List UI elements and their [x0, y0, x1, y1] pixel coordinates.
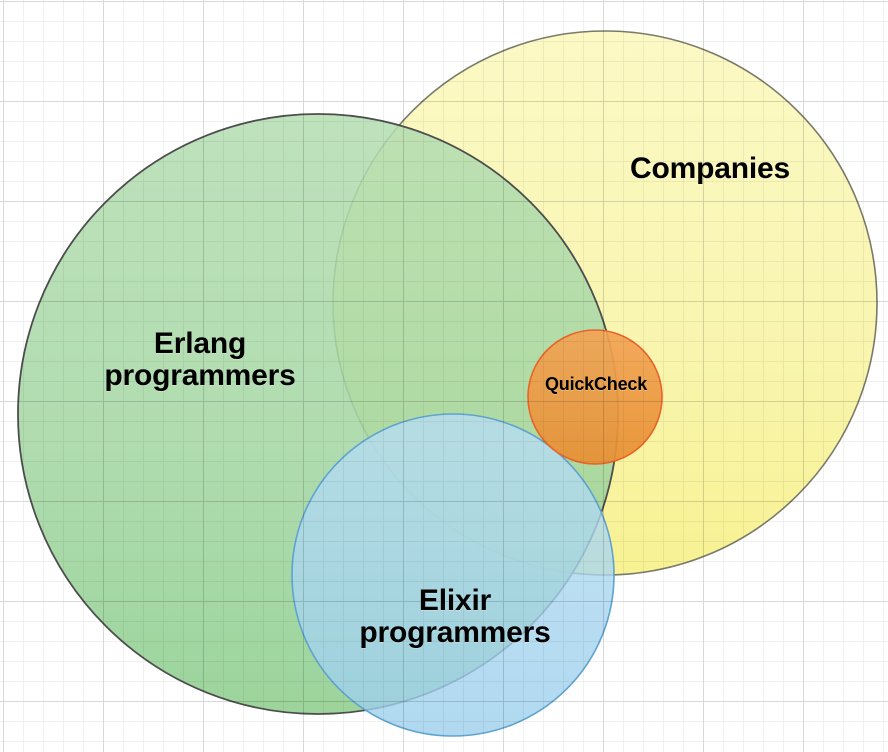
set-label-quickcheck: QuickCheck	[496, 375, 696, 394]
set-circle-elixir-programmers[interactable]	[292, 414, 614, 736]
set-label-erlang-programmers: Erlang programmers	[55, 328, 345, 393]
set-label-elixir-programmers: Elixir programmers	[310, 585, 600, 650]
venn-diagram-canvas: Erlang programmers Companies Elixir prog…	[0, 0, 888, 752]
set-circle-quickcheck[interactable]	[528, 330, 662, 464]
set-label-companies: Companies	[565, 153, 855, 185]
